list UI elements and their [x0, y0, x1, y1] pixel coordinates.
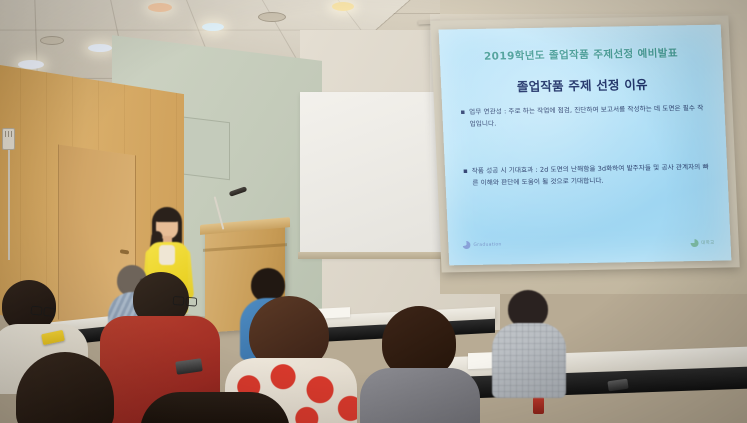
presenter-fringe: [154, 209, 180, 222]
audience-member: [492, 290, 566, 395]
downlight-icon: [202, 23, 224, 31]
slide-bullet-text: 업무 연관성 : 주로 하는 작업에 점검, 진단하여 보고서를 작성하는 데 …: [469, 103, 709, 130]
slide-bullet-item: ▪ 작품 성공 시 기대효과 : 2d 도면의 난해함을 3d화하여 발주자들 …: [463, 162, 712, 189]
door-handle-icon: [120, 249, 129, 254]
downlight-icon: [88, 44, 112, 52]
slide-bullet-item: ▪ 업무 연관성 : 주로 하는 작업에 점검, 진단하여 보고서를 작성하는 …: [460, 103, 709, 130]
presenter-inner-shirt: [159, 245, 175, 265]
beverage-can[interactable]: [533, 397, 544, 414]
projection-screen[interactable]: 2019학년도 졸업작품 주제선정 예비발표 졸업작품 주제 선정 이유 ▪ 업…: [439, 25, 732, 266]
audience-member: [360, 306, 480, 423]
bullet-marker-icon: ▪: [460, 107, 466, 130]
speaker-pole: [8, 150, 10, 260]
person-head: [16, 352, 114, 423]
logo-mark-icon: [462, 241, 470, 249]
glasses-icon: [31, 306, 56, 316]
slide-logo-left: Graduation: [462, 240, 502, 249]
glasses-icon: [173, 296, 197, 305]
ceiling-vent-icon: [40, 36, 64, 45]
logo-mark-icon: [690, 239, 698, 247]
person-torso: [360, 368, 480, 423]
audience-member: [140, 392, 290, 423]
ceiling-vent-icon: [258, 12, 286, 22]
audience-member: [8, 352, 126, 423]
slide-bullet-text: 작품 성공 시 기대효과 : 2d 도면의 난해함을 3d화하여 발주자들 및 …: [472, 162, 712, 189]
slide-logo-left-text: Graduation: [473, 242, 501, 247]
wall-speaker: [2, 128, 15, 150]
slide-logo-right-text: 대학교: [701, 240, 715, 246]
person-torso: [492, 323, 566, 398]
slide-bullet-list: ▪ 업무 연관성 : 주로 하는 작업에 점검, 진단하여 보고서를 작성하는 …: [460, 103, 713, 225]
person-torso: [140, 392, 290, 423]
lecture-hall-photo: 2019학년도 졸업작품 주제선정 예비발표 졸업작품 주제 선정 이유 ▪ 업…: [0, 0, 747, 423]
bullet-marker-icon: ▪: [463, 166, 469, 189]
downlight-icon: [148, 3, 172, 12]
downlight-icon: [332, 2, 354, 11]
slide-logo-right: 대학교: [690, 239, 715, 247]
